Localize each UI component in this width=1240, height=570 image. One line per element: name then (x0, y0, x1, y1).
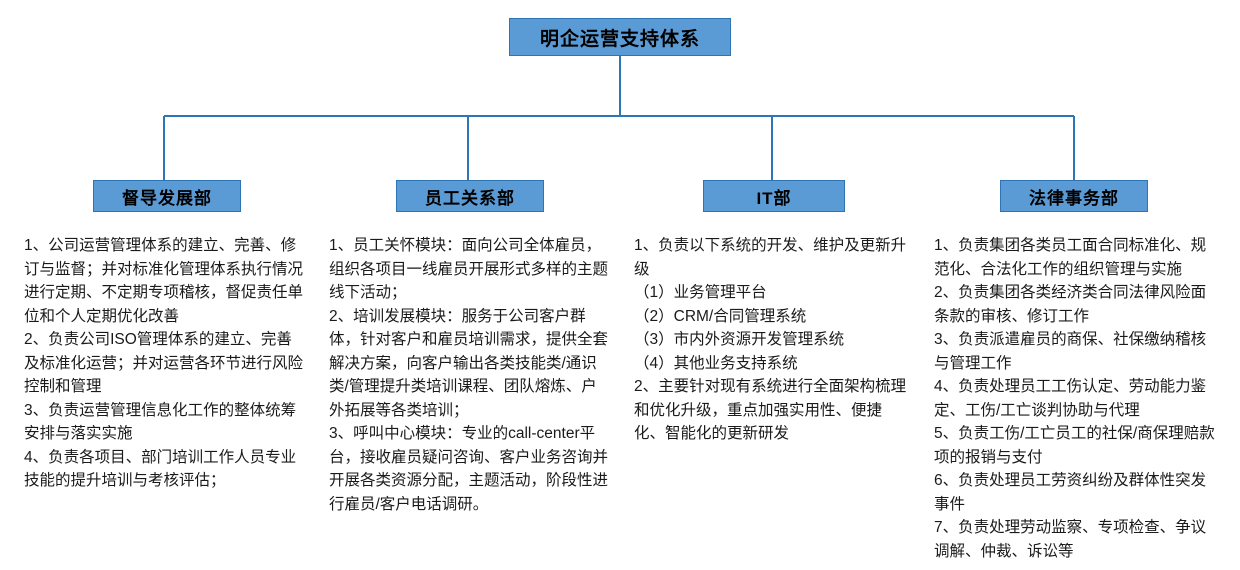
dept-node-it[interactable]: IT部 (703, 180, 845, 212)
root-node-title[interactable]: 明企运营支持体系 (509, 18, 731, 56)
dept-description-supervision-development: 1、公司运营管理体系的建立、完善、修订与监督；并对标准化管理体系执行情况进行定期… (24, 234, 306, 493)
dept-description-employee-relations: 1、员工关怀模块：面向公司全体雇员，组织各项目一线雇员开展形式多样的主题线下活动… (329, 234, 611, 516)
dept-node-legal-affairs[interactable]: 法律事务部 (1000, 180, 1148, 212)
org-chart-diagram: 明企运营支持体系 督导发展部 员工关系部 IT部 法律事务部 1、公司运营管理体… (0, 0, 1240, 570)
dept-node-employee-relations[interactable]: 员工关系部 (396, 180, 544, 212)
dept-description-it: 1、负责以下系统的开发、维护及更新升级 （1）业务管理平台 （2）CRM/合同管… (634, 234, 910, 446)
dept-node-supervision-development[interactable]: 督导发展部 (93, 180, 241, 212)
dept-description-legal-affairs: 1、负责集团各类员工面合同标准化、规范化、合法化工作的组织管理与实施 2、负责集… (934, 234, 1220, 563)
